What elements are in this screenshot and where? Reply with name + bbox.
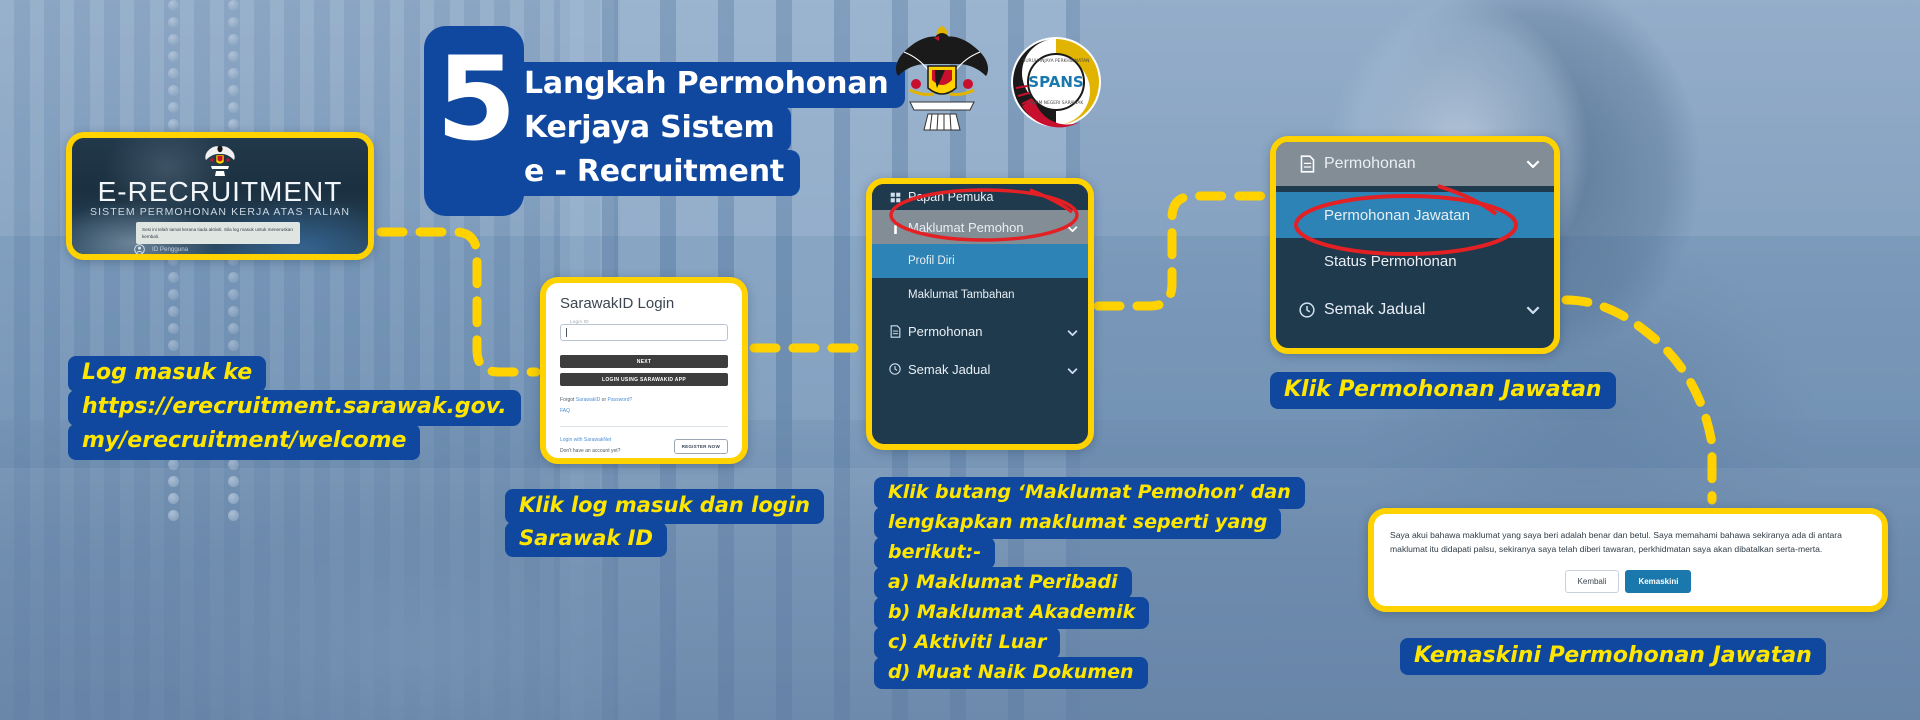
sarawakid-login-id-input[interactable] [560,324,728,341]
document-icon [1290,155,1324,173]
caption-line: Kemaskini Permohonan Jawatan [1400,638,1826,675]
svg-text:SPANS: SPANS [1028,73,1083,91]
headline-lines: Langkah Permohonan Kerjaya Sistem e - Re… [510,62,905,194]
sidebar-item-permohonan-jawatan[interactable]: Permohonan Jawatan [1276,192,1554,238]
sidebar-label: Maklumat Pemohon [908,220,1024,235]
sidebar-label: Maklumat Tambahan [908,289,1015,301]
caption-line: berikut:- [874,537,995,569]
erecruitment-landing-card[interactable]: E-RECRUITMENT SISTEM PERMOHONAN KERJA AT… [66,132,374,260]
faq-link[interactable]: FAQ [560,408,570,414]
caption-kemaskini-permohonan-jawatan: Kemaskini Permohonan Jawatan [1400,638,1826,673]
infographic-canvas: 5 Langkah Permohonan Kerjaya Sistem e - … [0,0,1920,720]
spans-logo-icon: SPANS SURUHANJAYA PERKHIDMATAN AWAM NEGE… [1010,36,1102,128]
sidebar-item-semak-jadual[interactable]: Semak Jadual [1276,284,1554,336]
no-account-label: Don't have an account yet? [560,446,620,457]
register-now-button[interactable]: REGISTER NOW [674,439,728,454]
sidebar-item-maklumat-pemohon[interactable]: Maklumat Pemohon [872,210,1088,244]
headline-line-3: e - Recruitment [510,150,800,196]
forgot-or-label: or [600,397,607,403]
sidebar-label: Status Permohonan [1324,253,1457,270]
caption-login-url: Log masuk ke https://erecruitment.sarawa… [68,356,521,458]
caption-line: lengkapkan maklumat seperti yang [874,507,1281,539]
sidebar-item-profil-diri[interactable]: Profil Diri [872,244,1088,278]
applicant-nav-menu[interactable]: Papan Pemuka Maklumat Pemohon Profil Dir… [866,178,1094,450]
sidebar-label: Permohonan [1324,155,1416,173]
sarawakid-heading: SarawakID Login [560,295,728,312]
svg-text:AWAM NEGERI SARAWAK: AWAM NEGERI SARAWAK [1029,100,1084,106]
confirmation-dialog[interactable]: Saya akui bahawa maklumat yang saya beri… [1368,508,1888,612]
headline-number: 5 [436,48,526,152]
caption-line: c) Aktiviti Luar [874,627,1060,659]
erecruitment-subtitle: SISTEM PERMOHONAN KERJA ATAS TALIAN [72,206,368,218]
text-caret [566,328,567,337]
divider [560,426,728,427]
caption-line: Log masuk ke [68,356,266,392]
caption-line: Klik log masuk dan login [505,489,824,524]
chevron-down-icon [1067,220,1078,235]
sarawak-coat-of-arms-icon [888,18,996,148]
sidebar-item-maklumat-tambahan[interactable]: Maklumat Tambahan [872,278,1088,312]
kembali-button[interactable]: Kembali [1565,570,1620,593]
clock-icon [882,363,908,375]
sidebar-item-permohonan[interactable]: Permohonan [1276,142,1554,186]
session-expired-notice: Sesi ini telah tamat kerana tiada aktivi… [136,222,300,244]
headline-line-2: Kerjaya Sistem [510,106,791,152]
sidebar-label: Papan Pemuka [908,190,993,204]
chevron-down-icon [1067,362,1078,377]
erecruitment-userid-placeholder: ID Pengguna [152,246,188,253]
forgot-prefix-label: Forgot [560,397,576,403]
caption-line: https://erecruitment.sarawak.gov. [68,390,521,426]
forgot-password-link[interactable]: Password? [608,397,633,403]
application-nav-menu[interactable]: Permohonan Permohonan Jawatan Status Per… [1270,136,1560,354]
sarawakid-next-button[interactable]: NEXT [560,355,728,368]
sarawak-crest-icon [205,141,235,177]
sarawakid-login-card[interactable]: SarawakID Login Login ID NEXT LOGIN USIN… [540,277,748,464]
sidebar-item-semak-jadual[interactable]: Semak Jadual [872,350,1088,388]
caption-line: Klik butang ‘Maklumat Pemohon’ dan [874,477,1305,509]
sidebar-item-permohonan[interactable]: Permohonan [872,312,1088,350]
caption-line: Sarawak ID [505,522,667,557]
sidebar-label: Semak Jadual [908,362,990,377]
declaration-text: Saya akui bahawa maklumat yang saya beri… [1390,528,1866,556]
caption-line: Klik Permohonan Jawatan [1270,372,1616,409]
headline-line-1: Langkah Permohonan [510,62,905,108]
user-icon [134,244,145,255]
caption-line: my/erecruitment/welcome [68,424,420,460]
sidebar-label: Profil Diri [908,255,955,267]
info-icon [882,221,908,234]
sarawakid-app-login-button[interactable]: LOGIN USING SARAWAKID APP [560,373,728,386]
sarawakid-login-id-label: Login ID [567,319,592,324]
sarawakid-login-id-field[interactable]: Login ID [560,324,728,341]
document-icon [882,325,908,338]
sidebar-label: Permohonan [908,324,982,339]
caption-klik-permohonan-jawatan: Klik Permohonan Jawatan [1270,372,1616,407]
sidebar-label: Permohonan Jawatan [1324,207,1470,224]
erecruitment-userid-field[interactable]: ID Pengguna [134,242,320,258]
sidebar-item-status-permohonan[interactable]: Status Permohonan [1276,238,1554,284]
kemaskini-button[interactable]: Kemaskini [1625,570,1691,593]
sarawakid-help-links: Forgot SarawakID or Password? FAQ [560,395,728,417]
caption-klik-log-masuk: Klik log masuk dan login Sarawak ID [505,489,824,555]
chevron-down-icon [1067,324,1078,339]
caption-line: d) Muat Naik Dokumen [874,657,1148,689]
sidebar-label: Semak Jadual [1324,301,1425,319]
caption-line: a) Maklumat Peribadi [874,567,1132,599]
forgot-sarawakid-link[interactable]: SarawakID [576,397,600,403]
chevron-down-icon [1526,155,1540,173]
chevron-down-icon [1526,301,1540,319]
erecruitment-title: E-RECRUITMENT [72,176,368,208]
sarawaknet-login-link[interactable]: Login with SarawakNet [560,435,620,446]
caption-line: b) Maklumat Akademik [874,597,1149,629]
clock-icon [1290,302,1324,318]
caption-maklumat-pemohon-steps: Klik butang ‘Maklumat Pemohon’ dan lengk… [874,477,1305,687]
svg-text:SURUHANJAYA PERKHIDMATAN: SURUHANJAYA PERKHIDMATAN [1023,58,1090,64]
